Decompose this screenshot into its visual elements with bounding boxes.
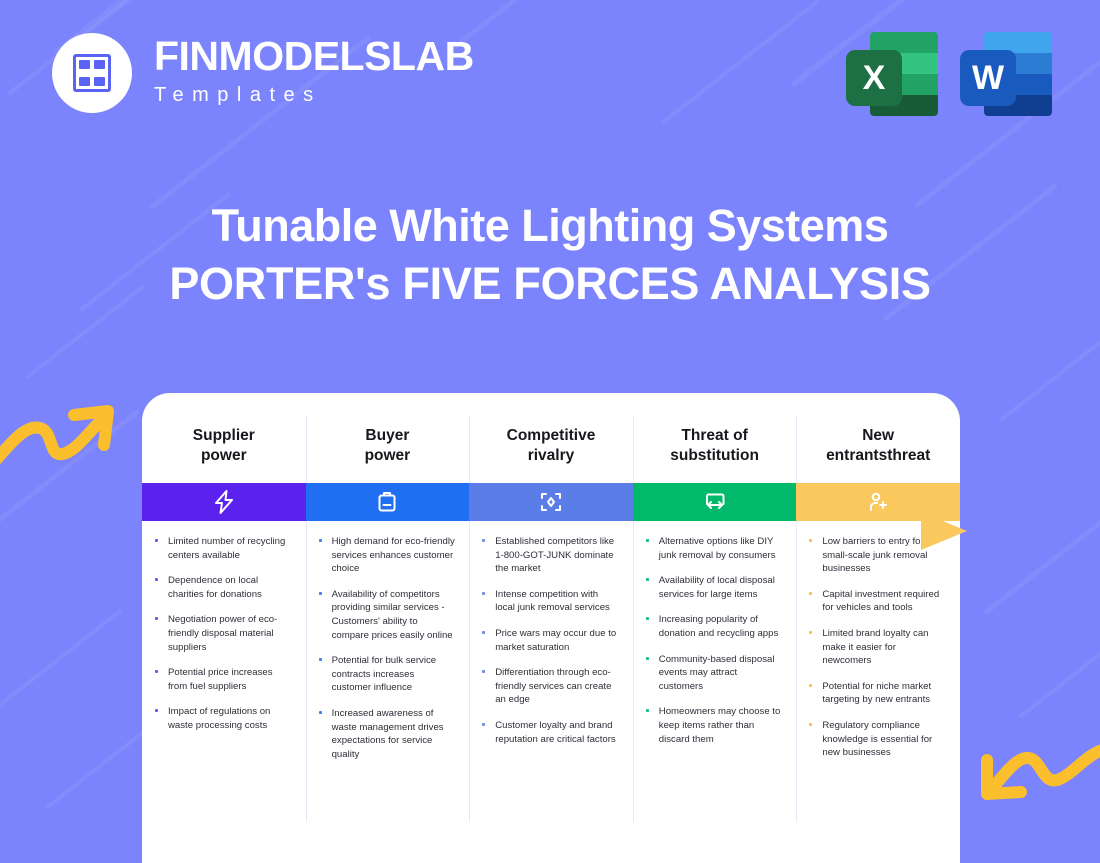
- list-item: Availability of local disposal services …: [644, 574, 784, 601]
- list-item: Regulatory compliance knowledge is essen…: [807, 719, 947, 760]
- list-item: Alternative options like DIY junk remova…: [644, 535, 784, 562]
- list-item: Limited brand loyalty can make it easier…: [807, 627, 947, 668]
- excel-letter: X: [846, 50, 902, 106]
- band-supplier-power: [142, 483, 306, 521]
- list-item: Community-based disposal events may attr…: [644, 653, 784, 694]
- column-supplier-power[interactable]: Supplier power Limited number of recycli…: [142, 393, 306, 863]
- list-item: Capital investment required for vehicles…: [807, 588, 947, 615]
- excel-file-icon: X: [846, 28, 938, 120]
- list-item: Limited number of recycling centers avai…: [153, 535, 293, 562]
- grid-icon: [73, 54, 111, 92]
- column-threat-of-substitution[interactable]: Threat of substitution Alternative optio…: [633, 393, 797, 863]
- list-item: High demand for eco-friendly services en…: [317, 535, 457, 576]
- list-item: Differentiation through eco-friendly ser…: [480, 666, 620, 707]
- column-header-competitive-rivalry: Competitive rivalry: [469, 393, 633, 483]
- word-letter: W: [960, 50, 1016, 106]
- column-buyer-power[interactable]: Buyer power High demand for eco-friendly…: [306, 393, 470, 863]
- header-line-1: Buyer: [365, 427, 409, 444]
- header-line-1: New: [862, 427, 894, 444]
- word-file-icon: W: [960, 28, 1052, 120]
- list-item: Homeowners may choose to keep items rath…: [644, 705, 784, 746]
- porters-five-forces-table: Supplier power Limited number of recycli…: [142, 393, 960, 863]
- briefcase-icon: [376, 490, 398, 514]
- list-item: Dependence on local charities for donati…: [153, 574, 293, 601]
- list-item: Established competitors like 1-800-GOT-J…: [480, 535, 620, 576]
- list-item: Potential for niche market targeting by …: [807, 680, 947, 707]
- bullet-list-competitive-rivalry: Established competitors like 1-800-GOT-J…: [469, 521, 633, 863]
- header-line-1: Threat of: [681, 427, 747, 444]
- header-line-2: power: [201, 447, 247, 464]
- column-header-new-entrants-threat: New entrantsthreat: [796, 393, 960, 483]
- logo-circle: [52, 33, 132, 113]
- list-item: Intense competition with local junk remo…: [480, 588, 620, 615]
- list-item: Increased awareness of waste management …: [317, 707, 457, 761]
- brand-header: FINMODELSLAB Templates: [52, 33, 474, 113]
- title-line-2: PORTER's FIVE FORCES ANALYSIS: [0, 255, 1100, 313]
- header-line-2: entrantsthreat: [826, 447, 930, 464]
- brand-tagline: Templates: [154, 79, 474, 111]
- list-item: Impact of regulations on waste processin…: [153, 705, 293, 732]
- header-line-1: Competitive: [507, 427, 596, 444]
- column-header-supplier-power: Supplier power: [142, 393, 306, 483]
- squiggly-arrow-down-left-icon: [979, 742, 1100, 814]
- header-line-2: power: [365, 447, 411, 464]
- list-item: Negotiation power of eco-friendly dispos…: [153, 613, 293, 654]
- header-line-2: substitution: [670, 447, 759, 464]
- header-line-2: rivalry: [528, 447, 575, 464]
- list-item: Price wars may occur due to market satur…: [480, 627, 620, 654]
- column-header-threat-of-substitution: Threat of substitution: [633, 393, 797, 483]
- columns-container: Supplier power Limited number of recycli…: [142, 393, 960, 863]
- header-line-1: Supplier: [193, 427, 255, 444]
- band-buyer-power: [306, 483, 470, 521]
- bullet-list-new-entrants-threat: Low barriers to entry for small-scale ju…: [796, 521, 960, 863]
- bullet-list-supplier-power: Limited number of recycling centers avai…: [142, 521, 306, 863]
- list-item: Increasing popularity of donation and re…: [644, 613, 784, 640]
- title-line-1: Tunable White Lighting Systems: [0, 197, 1100, 255]
- band-threat-of-substitution: [633, 483, 797, 521]
- column-competitive-rivalry[interactable]: Competitive rivalry Established competit…: [469, 393, 633, 863]
- band-competitive-rivalry: [469, 483, 633, 521]
- file-format-badges: X W: [846, 28, 1052, 120]
- user-plus-icon: [866, 490, 890, 514]
- list-item: Availability of competitors providing si…: [317, 588, 457, 642]
- column-new-entrants-threat[interactable]: New entrantsthreat Low barriers to entry…: [796, 393, 960, 863]
- list-item: Potential for bulk service contracts inc…: [317, 654, 457, 695]
- target-focus-icon: [539, 490, 563, 514]
- exchange-arrows-icon: [703, 491, 727, 513]
- bullet-list-threat-of-substitution: Alternative options like DIY junk remova…: [633, 521, 797, 863]
- band-arrow-tip-icon: [921, 503, 967, 559]
- list-item: Potential price increases from fuel supp…: [153, 666, 293, 693]
- page-title: Tunable White Lighting Systems PORTER's …: [0, 197, 1100, 312]
- bullet-list-buyer-power: High demand for eco-friendly services en…: [306, 521, 470, 863]
- list-item: Customer loyalty and brand reputation ar…: [480, 719, 620, 746]
- lightning-bolt-icon: [213, 490, 235, 514]
- column-header-buyer-power: Buyer power: [306, 393, 470, 483]
- brand-name: FINMODELSLAB: [154, 36, 474, 77]
- squiggly-arrow-up-right-icon: [0, 398, 117, 470]
